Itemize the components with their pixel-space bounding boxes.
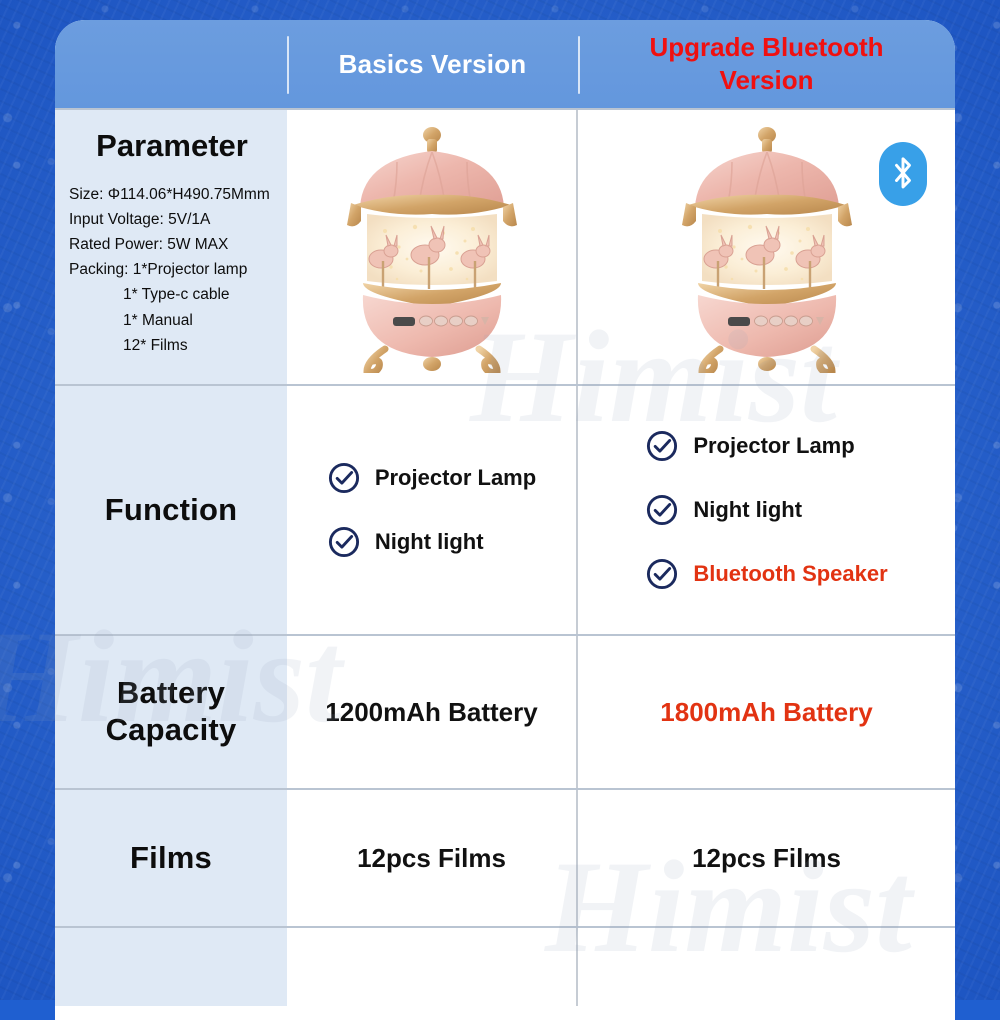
header-divider-2	[578, 36, 580, 94]
feature-item: Bluetooth Speaker	[645, 557, 887, 591]
feature-item: Night light	[327, 525, 536, 559]
table-row-parameter: Parameter Size: Φ114.06*H490.75Mmm Input…	[55, 108, 955, 384]
battery-value-basic: 1200mAh Battery	[325, 697, 537, 728]
feature-item: Projector Lamp	[645, 429, 887, 463]
header-divider-1	[287, 36, 289, 94]
films-label-cell: Films	[55, 790, 287, 926]
next-label-cell	[55, 928, 287, 1006]
feature-label: Projector Lamp	[693, 433, 854, 459]
check-circle-icon	[327, 461, 361, 495]
feature-label: Projector Lamp	[375, 465, 536, 491]
basic-product-image-cell	[287, 110, 578, 384]
spec-line: Input Voltage: 5V/1A	[69, 207, 279, 232]
function-label-cell: Function	[55, 386, 287, 634]
bluetooth-glyph	[890, 154, 916, 194]
comparison-table: Basics Version Upgrade Bluetooth Version…	[55, 20, 955, 1020]
feature-label: Night light	[375, 529, 484, 555]
header-cell-basic-version: Basics Version	[287, 20, 578, 108]
films-value-upgrade: 12pcs Films	[692, 843, 841, 874]
table-row-battery: Battery Capacity 1200mAh Battery 1800mAh…	[55, 634, 955, 788]
parameter-title: Parameter	[96, 128, 248, 164]
check-circle-icon	[645, 493, 679, 527]
header-cell-label	[55, 20, 287, 108]
upgrade-product-image-cell	[578, 110, 955, 384]
table-row-next-partial	[55, 926, 955, 1006]
table-header: Basics Version Upgrade Bluetooth Version	[55, 20, 955, 108]
parameter-label-cell: Parameter Size: Φ114.06*H490.75Mmm Input…	[55, 110, 287, 384]
next-basic-cell	[287, 928, 578, 1006]
basic-feature-list: Projector Lamp Night light	[317, 461, 546, 559]
battery-value-upgrade: 1800mAh Battery	[660, 697, 872, 728]
battery-title-line1: Battery	[117, 675, 225, 712]
basic-films-cell: 12pcs Films	[287, 790, 578, 926]
spec-line: Size: Φ114.06*H490.75Mmm	[69, 182, 279, 207]
upgrade-function-cell: Projector Lamp Night light Bluetooth Spe…	[578, 386, 955, 634]
battery-title-line2: Capacity	[106, 712, 237, 749]
upgrade-feature-list: Projector Lamp Night light Bluetooth Spe…	[635, 429, 897, 591]
spec-line: 1* Manual	[69, 308, 279, 333]
upgrade-films-cell: 12pcs Films	[578, 790, 955, 926]
parameter-spec-list: Size: Φ114.06*H490.75Mmm Input Voltage: …	[65, 182, 279, 358]
check-circle-icon	[645, 429, 679, 463]
films-title: Films	[130, 840, 212, 877]
bluetooth-icon	[879, 142, 927, 206]
feature-label-highlight: Bluetooth Speaker	[693, 561, 887, 587]
next-upgrade-cell	[578, 928, 955, 1006]
check-circle-icon	[645, 557, 679, 591]
upgrade-battery-cell: 1800mAh Battery	[578, 636, 955, 788]
feature-label: Night light	[693, 497, 802, 523]
spec-line: Packing: 1*Projector lamp	[69, 257, 279, 282]
projector-lamp-image	[327, 121, 537, 373]
basic-battery-cell: 1200mAh Battery	[287, 636, 578, 788]
function-title: Function	[105, 492, 237, 529]
spec-line: Rated Power: 5W MAX	[69, 232, 279, 257]
feature-item: Projector Lamp	[327, 461, 536, 495]
spec-line: 1* Type-c cable	[69, 282, 279, 307]
films-value-basic: 12pcs Films	[357, 843, 506, 874]
battery-label-cell: Battery Capacity	[55, 636, 287, 788]
header-cell-upgrade-version: Upgrade Bluetooth Version	[578, 20, 955, 108]
basic-function-cell: Projector Lamp Night light	[287, 386, 578, 634]
projector-lamp-bluetooth-image	[662, 121, 872, 373]
check-circle-icon	[327, 525, 361, 559]
table-row-function: Function Projector Lamp Night light	[55, 384, 955, 634]
feature-item: Night light	[645, 493, 887, 527]
table-row-films: Films 12pcs Films 12pcs Films	[55, 788, 955, 926]
spec-line: 12* Films	[69, 333, 279, 358]
